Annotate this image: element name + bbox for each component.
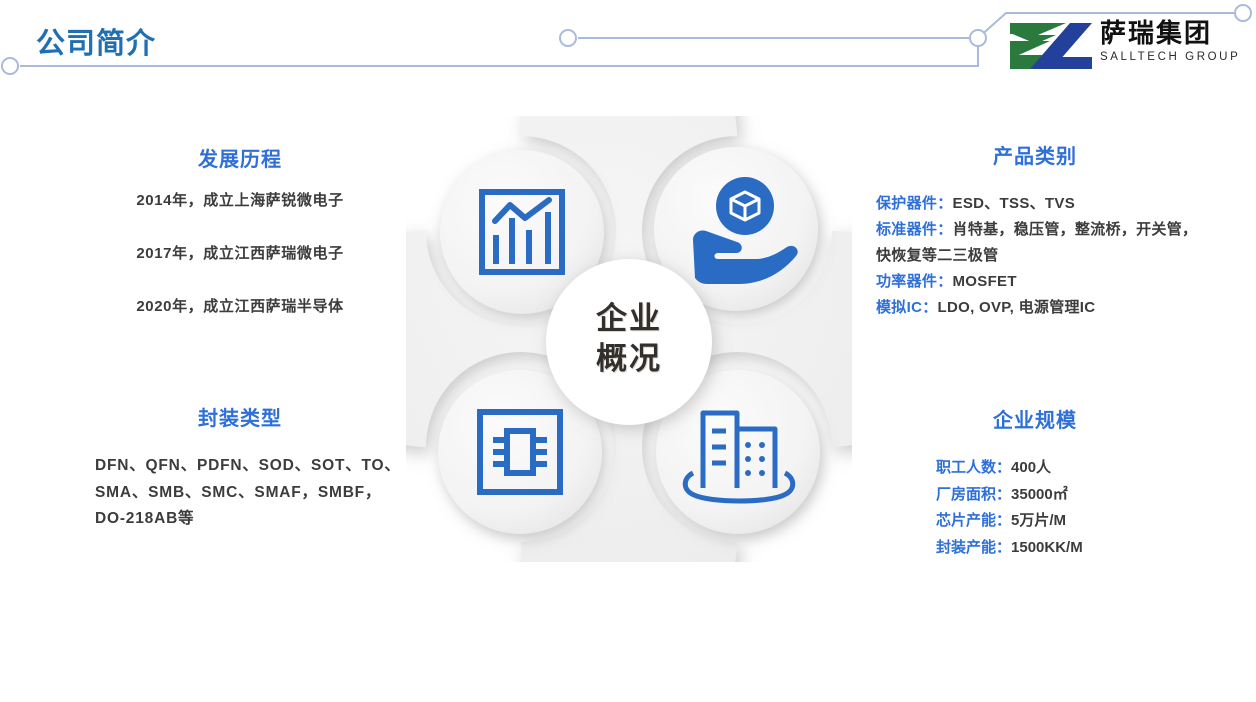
section-product-categories: 产品类别 保护器件：ESD、TSS、TVS 标准器件：肖特基，稳压管，整流桥，开… — [862, 140, 1208, 321]
company-overview-diagram: 企业 概况 — [406, 116, 852, 562]
diagram-center-circle — [546, 259, 712, 425]
list-item: 芯片产能：5万片/M — [936, 508, 1208, 535]
list-item: 2017年，成立江西萨瑞微电子 — [60, 243, 420, 265]
page-title: 公司简介 — [36, 20, 156, 62]
section-heading-development-history: 发展历程 — [60, 143, 420, 172]
list-item-key: 芯片产能： — [936, 512, 1011, 529]
logo-name-en: SALLTECH GROUP — [1100, 50, 1250, 65]
list-item: 职工人数：400人 — [936, 455, 1208, 482]
list-item-key: 模拟IC： — [876, 299, 938, 316]
list-item: 封装产能：1500KK/M — [936, 535, 1208, 562]
section-development-history: 发展历程 2014年，成立上海萨锐微电子 2017年，成立江西萨瑞微电子 202… — [60, 143, 420, 318]
list-item: 模拟IC：LDO, OVP, 电源管理IC — [876, 295, 1208, 321]
company-scale-list: 职工人数：400人 厂房面积：35000㎡ 芯片产能：5万片/M 封装产能：15… — [862, 455, 1208, 561]
list-item-value: ESD、TSS、TVS — [953, 195, 1076, 212]
list-item-value: 35000㎡ — [1011, 486, 1068, 503]
list-item-key: 职工人数： — [936, 459, 1011, 476]
list-item: 标准器件：肖特基，稳压管，整流桥，开关管，快恢复等二三极管 — [876, 217, 1208, 269]
list-item: 2014年，成立上海萨锐微电子 — [60, 190, 420, 212]
list-item-key: 功率器件： — [876, 273, 953, 290]
list-item-key: 厂房面积： — [936, 486, 1011, 503]
list-item-value: LDO, OVP, 电源管理IC — [938, 299, 1096, 316]
list-item-value: 5万片/M — [1011, 512, 1066, 529]
list-item: 功率器件：MOSFET — [876, 269, 1208, 295]
list-item-value: 400人 — [1011, 459, 1051, 476]
list-item-value: MOSFET — [953, 273, 1017, 290]
section-heading-product-categories: 产品类别 — [862, 140, 1208, 169]
list-item: 厂房面积：35000㎡ — [936, 482, 1208, 509]
list-item-key: 封装产能： — [936, 539, 1011, 556]
section-package-types: 封装类型 DFN、QFN、PDFN、SOD、SOT、TO、SMA、SMB、SMC… — [60, 402, 420, 533]
list-item-value: 1500KK/M — [1011, 539, 1083, 556]
salltech-logo-mark-icon — [1008, 21, 1094, 71]
page-header: 公司简介 萨瑞集团 SALLTECH GROUP — [0, 0, 1256, 95]
list-item: 保护器件：ESD、TSS、TVS — [876, 191, 1208, 217]
logo-name-cn: 萨瑞集团 — [1100, 18, 1250, 48]
section-heading-package-types: 封装类型 — [60, 402, 420, 431]
section-company-scale: 企业规模 职工人数：400人 厂房面积：35000㎡ 芯片产能：5万片/M 封装… — [862, 404, 1208, 561]
development-history-list: 2014年，成立上海萨锐微电子 2017年，成立江西萨瑞微电子 2020年，成立… — [60, 190, 420, 318]
list-item-key: 保护器件： — [876, 195, 953, 212]
list-item: 2020年，成立江西萨瑞半导体 — [60, 296, 420, 318]
logo-text: 萨瑞集团 SALLTECH GROUP — [1100, 18, 1250, 65]
section-heading-company-scale: 企业规模 — [862, 404, 1208, 433]
package-types-text: DFN、QFN、PDFN、SOD、SOT、TO、SMA、SMB、SMC、SMAF… — [60, 453, 420, 533]
list-item-key: 标准器件： — [876, 221, 953, 238]
product-categories-list: 保护器件：ESD、TSS、TVS 标准器件：肖特基，稳压管，整流桥，开关管，快恢… — [862, 191, 1208, 321]
company-logo: 萨瑞集团 SALLTECH GROUP — [1008, 14, 1248, 76]
